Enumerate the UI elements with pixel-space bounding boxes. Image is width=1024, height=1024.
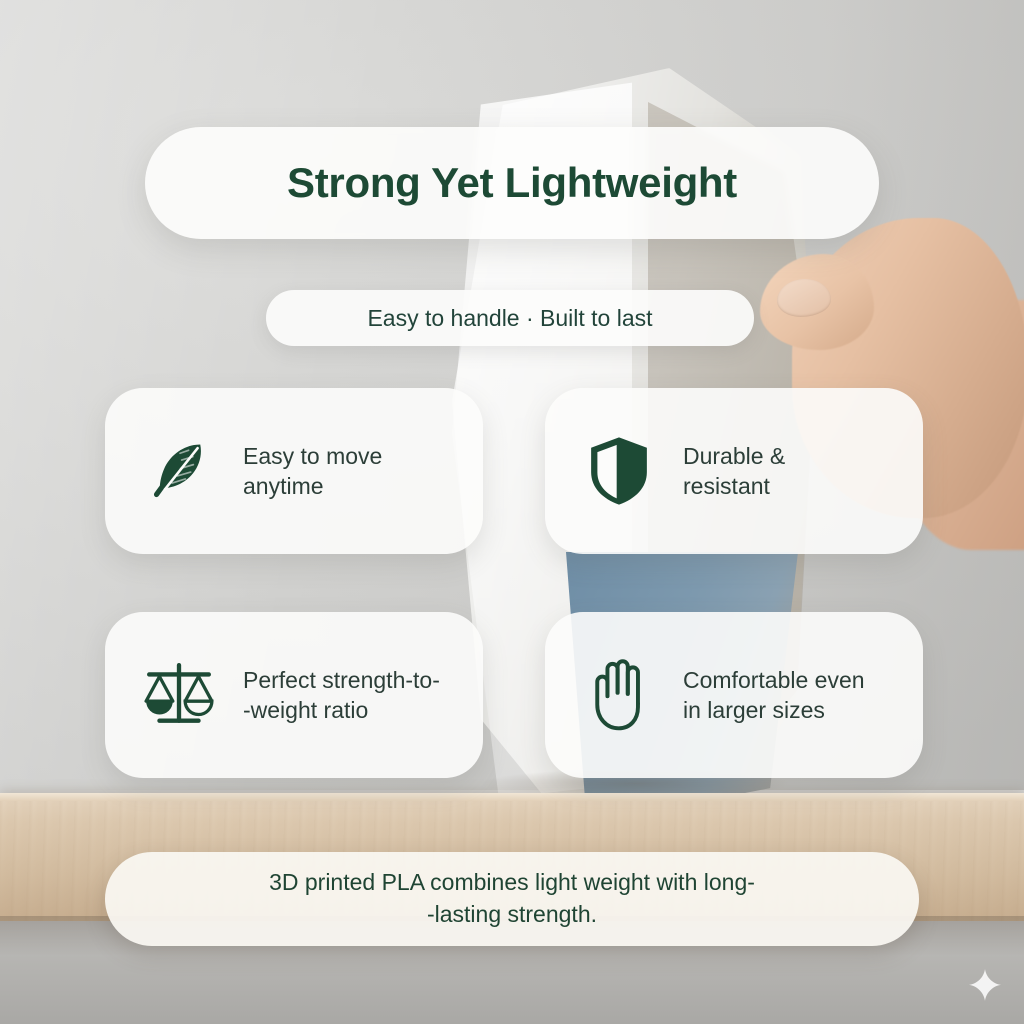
subtitle-banner: Easy to handle · Built to last <box>266 290 754 346</box>
wooden-shelf-top-edge <box>0 793 1024 801</box>
page-title: Strong Yet Lightweight <box>287 159 737 207</box>
promo-graphic: Strong Yet Lightweight Easy to handle · … <box>0 0 1024 1024</box>
feature-label-line-1: Easy to move <box>243 443 382 469</box>
footer-text: 3D printed PLA combines light weight wit… <box>269 867 755 930</box>
feature-card-comfortable[interactable]: Comfortable even in larger sizes <box>545 612 923 778</box>
feature-card-label: Perfect strength-to- -weight ratio <box>243 665 440 726</box>
feature-label-line-2: resistant <box>683 473 770 499</box>
feature-card-easy-to-move[interactable]: Easy to move anytime <box>105 388 483 554</box>
feature-label-line-2: -weight ratio <box>243 697 368 723</box>
hand-thumbnail <box>777 279 831 317</box>
feather-icon <box>141 433 217 509</box>
footer-line-1: 3D printed PLA combines light weight wit… <box>269 869 755 895</box>
feature-label-line-1: Durable & <box>683 443 785 469</box>
balance-scale-icon <box>141 657 217 733</box>
feature-label-line-1: Comfortable even <box>683 667 865 693</box>
feature-card-durable[interactable]: Durable & resistant <box>545 388 923 554</box>
shield-icon <box>581 433 657 509</box>
footer-banner: 3D printed PLA combines light weight wit… <box>105 852 919 946</box>
feature-card-label: Durable & resistant <box>683 441 785 502</box>
feature-card-grid: Easy to move anytime Durable & resistant <box>105 388 923 778</box>
feature-card-label: Comfortable even in larger sizes <box>683 665 865 726</box>
feature-label-line-1: Perfect strength-to- <box>243 667 440 693</box>
sparkle-icon <box>968 968 1002 1002</box>
footer-line-2: -lasting strength. <box>427 901 597 927</box>
page-subtitle: Easy to handle · Built to last <box>367 305 652 332</box>
feature-card-label: Easy to move anytime <box>243 441 382 502</box>
open-hand-icon <box>581 657 657 733</box>
feature-label-line-2: in larger sizes <box>683 697 825 723</box>
feature-card-strength-to-weight[interactable]: Perfect strength-to- -weight ratio <box>105 612 483 778</box>
title-banner: Strong Yet Lightweight <box>145 127 879 239</box>
feature-label-line-2: anytime <box>243 473 324 499</box>
